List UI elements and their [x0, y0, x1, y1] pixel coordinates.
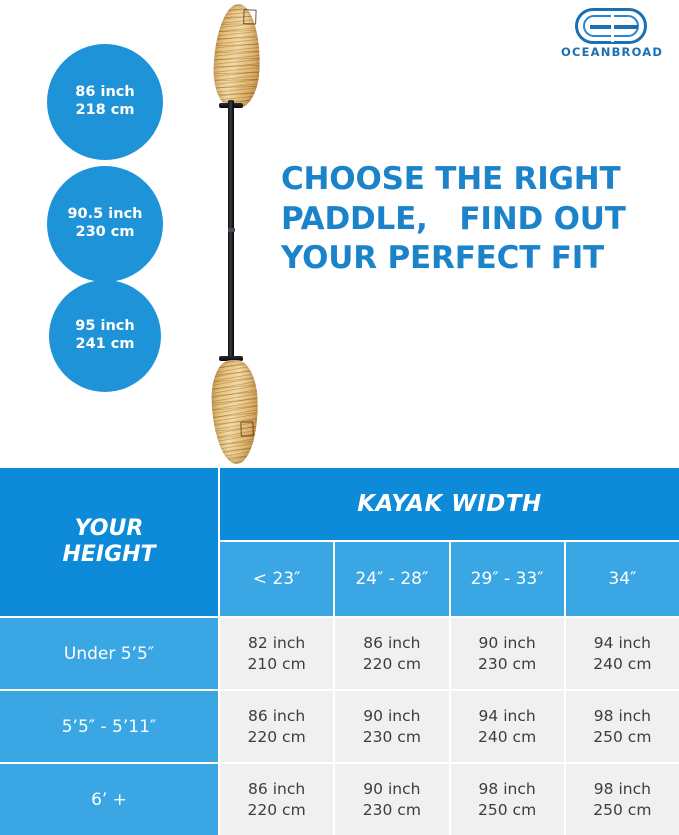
- cell-cm: 230 cm: [363, 800, 421, 820]
- table-row: Under 5’5″ 82 inch 210 cm 86 inch 220 cm…: [0, 618, 679, 689]
- cell-inch: 98 inch: [594, 779, 651, 799]
- cell-inch: 98 inch: [479, 779, 536, 799]
- length-badge-cm: 230 cm: [75, 224, 134, 242]
- table-cell: 90 inch 230 cm: [335, 691, 450, 762]
- length-badge-cm: 241 cm: [75, 336, 134, 354]
- paddle-blade-bottom: [210, 359, 260, 465]
- table-cell: 98 inch 250 cm: [451, 764, 566, 835]
- column-header-3: 34″: [566, 542, 679, 616]
- paddle-size-chart: YOUR HEIGHT KAYAK WIDTH < 23″ 24″ - 28″ …: [0, 468, 679, 835]
- table-cell: 98 inch 250 cm: [566, 691, 679, 762]
- headline-line-1: CHOOSE THE RIGHT: [281, 160, 673, 200]
- table-row: 6’ + 86 inch 220 cm 90 inch 230 cm 98 in…: [0, 764, 679, 835]
- cell-inch: 86 inch: [363, 633, 420, 653]
- row-label: 6’ +: [0, 764, 218, 835]
- column-headers: < 23″ 24″ - 28″ 29″ - 33″ 34″: [220, 542, 679, 616]
- cell-cm: 230 cm: [478, 654, 536, 674]
- logo-crossbar: [590, 25, 638, 29]
- cell-cm: 220 cm: [363, 654, 421, 674]
- length-badge: 90.5 inch 230 cm: [47, 166, 163, 282]
- cell-inch: 90 inch: [479, 633, 536, 653]
- table-cell: 90 inch 230 cm: [335, 764, 450, 835]
- kayak-paddle-image: [196, 0, 276, 450]
- length-badge: 95 inch 241 cm: [49, 280, 161, 392]
- cell-cm: 240 cm: [478, 727, 536, 747]
- cell-cm: 240 cm: [593, 654, 651, 674]
- paddle-ferrule-joint: [228, 228, 235, 232]
- table-cell: 90 inch 230 cm: [451, 618, 566, 689]
- row-header-title: YOUR HEIGHT: [0, 468, 218, 616]
- cell-cm: 210 cm: [248, 654, 306, 674]
- table-row: 5’5″ - 5’11″ 86 inch 220 cm 90 inch 230 …: [0, 691, 679, 762]
- cell-inch: 90 inch: [363, 779, 420, 799]
- table-cell: 94 inch 240 cm: [566, 618, 679, 689]
- cell-inch: 98 inch: [594, 706, 651, 726]
- table-cell: 86 inch 220 cm: [220, 691, 335, 762]
- table-cell: 86 inch 220 cm: [220, 764, 335, 835]
- length-badge: 86 inch 218 cm: [47, 44, 163, 160]
- cell-cm: 220 cm: [248, 800, 306, 820]
- length-badge-inch: 90.5 inch: [67, 206, 142, 224]
- row-cells: 86 inch 220 cm 90 inch 230 cm 94 inch 24…: [220, 691, 679, 762]
- brand-logo: OCEANBROAD: [561, 8, 661, 60]
- row-label: 5’5″ - 5’11″: [0, 691, 218, 762]
- length-badge-cm: 218 cm: [75, 102, 134, 120]
- table-cell: 86 inch 220 cm: [335, 618, 450, 689]
- table-cell: 94 inch 240 cm: [451, 691, 566, 762]
- page-title: CHOOSE THE RIGHT PADDLE, FIND OUT YOUR P…: [281, 160, 673, 279]
- column-header-1: 24″ - 28″: [335, 542, 450, 616]
- cell-cm: 220 cm: [248, 727, 306, 747]
- cell-inch: 90 inch: [363, 706, 420, 726]
- cell-inch: 86 inch: [248, 779, 305, 799]
- row-label: Under 5’5″: [0, 618, 218, 689]
- paddle-blade-top: [212, 3, 262, 109]
- paddle-shaft: [228, 100, 234, 368]
- cell-cm: 230 cm: [363, 727, 421, 747]
- column-group-title: KAYAK WIDTH: [220, 468, 679, 540]
- blade-logo-stamp-icon: [243, 9, 257, 24]
- cell-inch: 82 inch: [248, 633, 305, 653]
- headline-line-3: YOUR PERFECT FIT: [281, 239, 673, 279]
- cell-cm: 250 cm: [593, 800, 651, 820]
- length-badge-inch: 86 inch: [75, 84, 134, 102]
- table-cell: 98 inch 250 cm: [566, 764, 679, 835]
- cell-inch: 86 inch: [248, 706, 305, 726]
- length-badge-inch: 95 inch: [75, 318, 134, 336]
- logo-divider: [611, 15, 614, 42]
- table-cell: 82 inch 210 cm: [220, 618, 335, 689]
- oceanbroad-ob-monogram-icon: [575, 8, 647, 44]
- brand-name: OCEANBROAD: [561, 45, 661, 59]
- column-header-2: 29″ - 33″: [451, 542, 566, 616]
- row-cells: 86 inch 220 cm 90 inch 230 cm 98 inch 25…: [220, 764, 679, 835]
- blade-logo-stamp-icon: [240, 421, 254, 436]
- headline-line-2: PADDLE, FIND OUT: [281, 200, 673, 240]
- row-header-line-2: HEIGHT: [62, 542, 155, 568]
- cell-cm: 250 cm: [478, 800, 536, 820]
- cell-inch: 94 inch: [594, 633, 651, 653]
- cell-inch: 94 inch: [479, 706, 536, 726]
- chart-header: YOUR HEIGHT KAYAK WIDTH < 23″ 24″ - 28″ …: [0, 468, 679, 616]
- column-header-0: < 23″: [220, 542, 335, 616]
- row-header-line-1: YOUR: [62, 516, 155, 542]
- cell-cm: 250 cm: [593, 727, 651, 747]
- row-cells: 82 inch 210 cm 86 inch 220 cm 90 inch 23…: [220, 618, 679, 689]
